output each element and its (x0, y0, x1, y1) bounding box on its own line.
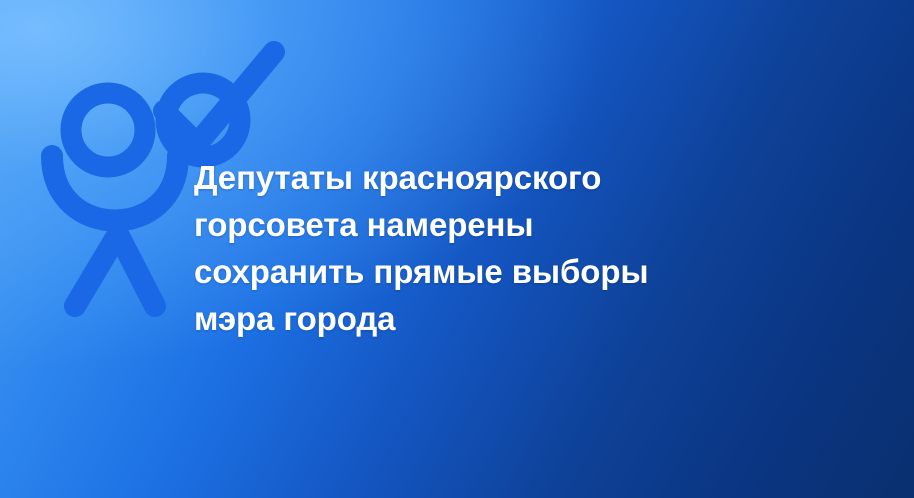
logo-checkmark (164, 52, 274, 144)
headline-line-1: Депутаты красноярского (194, 154, 734, 201)
logo-legs-lambda (75, 234, 155, 306)
headline: Депутаты красноярского горсовета намерен… (194, 154, 734, 342)
headline-line-3: сохранить прямые выборы (194, 248, 734, 295)
logo-smile-arc (52, 156, 178, 221)
headline-line-2: горсовета намерены (194, 201, 734, 248)
news-banner: Депутаты красноярского горсовета намерен… (0, 0, 914, 498)
logo-left-eye-ring (71, 93, 145, 167)
logo-right-eye-ring (166, 83, 240, 157)
headline-line-4: мэра города (194, 295, 734, 342)
